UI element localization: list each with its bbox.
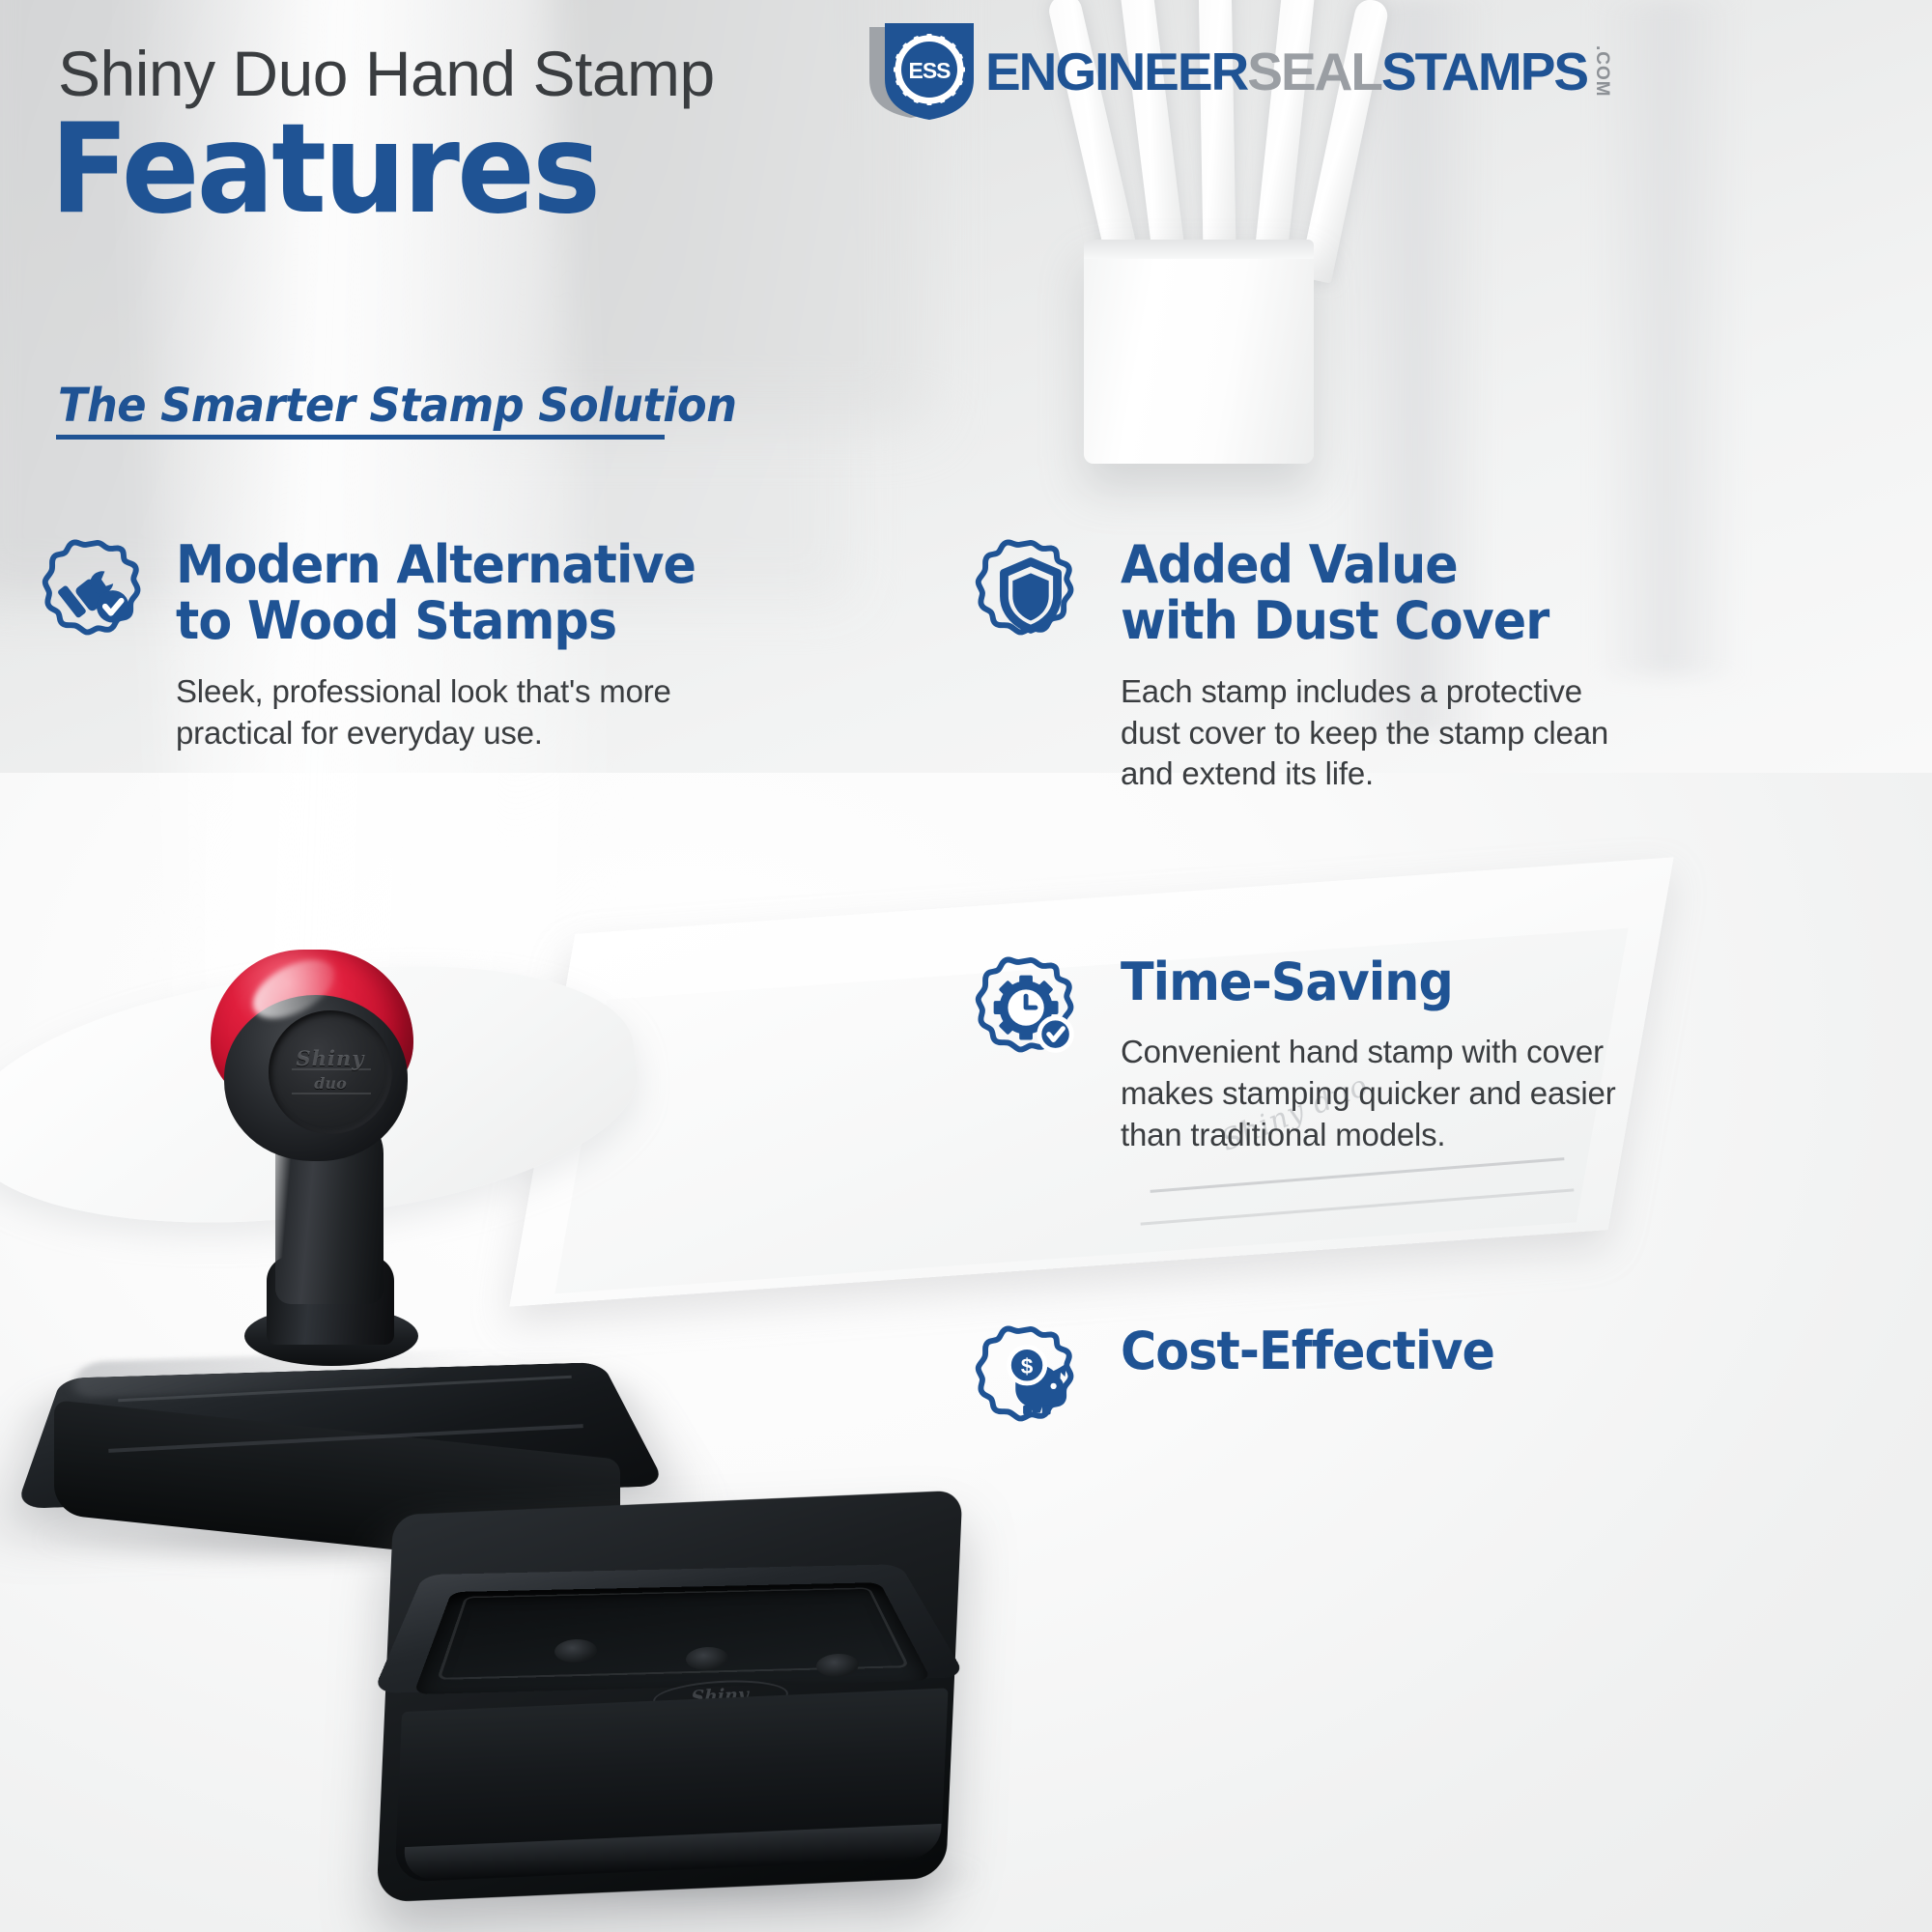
feature-title: Cost-Effective [1121, 1323, 1494, 1379]
logo-word-com: .COM [1593, 45, 1611, 98]
stamp-wrench-check-badge-icon [41, 537, 155, 651]
feature-text: Added Value with Dust Cover Each stamp i… [1121, 537, 1608, 795]
logo-word-seal: SEAL [1247, 45, 1381, 99]
ess-shield-icon: ESS [869, 21, 981, 122]
feature-description: Sleek, professional look that's more pra… [176, 671, 728, 754]
logo-wordmark: ENGINEER SEAL STAMPS .COM [985, 45, 1611, 99]
svg-text:$: $ [1021, 1354, 1034, 1378]
content-layer: Shiny Duo Hand Stamp [0, 0, 1932, 1932]
feature-title: Time-Saving [1121, 954, 1586, 1010]
svg-text:ESS: ESS [908, 58, 951, 83]
logo-word-engineer: ENGINEER [985, 45, 1247, 99]
piggy-bank-badge-icon: $ [974, 1323, 1088, 1437]
feature-item: Added Value with Dust Cover Each stamp i… [974, 537, 1901, 795]
gear-clock-check-badge-icon [974, 954, 1088, 1068]
feature-description: Each stamp includes a protective dust co… [1121, 671, 1608, 796]
feature-item: Time-Saving Convenient hand stamp with c… [974, 954, 1901, 1156]
page-title: Features [50, 108, 598, 232]
feature-title: Modern Alternative to Wood Stamps [176, 537, 696, 650]
feature-text: Time-Saving Convenient hand stamp with c… [1121, 954, 1616, 1156]
feature-text: Cost-Effective [1121, 1323, 1519, 1401]
brand-logo[interactable]: ESS ENGINEER SEAL STAMPS .COM [869, 21, 1611, 122]
feature-text: Modern Alternative to Wood Stamps Sleek,… [176, 537, 728, 753]
feature-description: Convenient hand stamp with cover makes s… [1121, 1032, 1616, 1156]
feature-item: Modern Alternative to Wood Stamps Sleek,… [41, 537, 775, 753]
tagline-underline [56, 435, 665, 440]
logo-word-stamps: STAMPS [1381, 45, 1587, 99]
feature-item: $ Cost-Effective [974, 1323, 1901, 1437]
feature-title: Added Value with Dust Cover [1121, 537, 1579, 650]
tagline: The Smarter Stamp Solution [58, 379, 737, 433]
gear-ess-mark-icon: ESS [869, 21, 981, 122]
shield-badge-icon [974, 537, 1088, 651]
